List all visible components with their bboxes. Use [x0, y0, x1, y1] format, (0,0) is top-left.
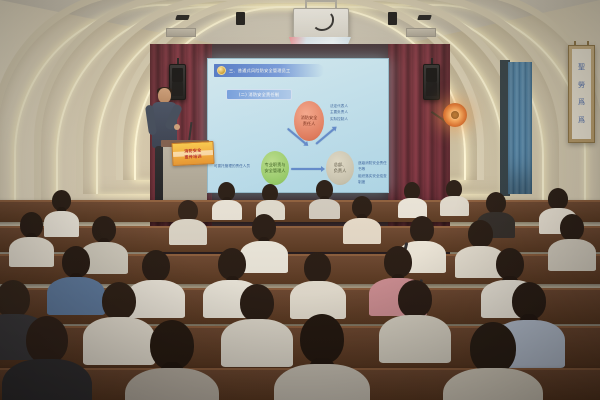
slide-subheading-box: (二) 消防安全责任制 — [226, 89, 292, 100]
ceiling-track-light-left — [236, 12, 245, 25]
ceiling-track-light-right — [388, 12, 397, 25]
head — [548, 188, 568, 210]
shoulders — [274, 364, 370, 400]
scroll-character-4: 爲 — [578, 117, 585, 124]
ceiling-vent-right — [406, 28, 436, 37]
shoulders — [398, 198, 427, 218]
diagram-node-right-label: 总部、 负责人 — [334, 162, 347, 175]
scroll-character-2: 勞 — [578, 82, 585, 89]
shoulders — [343, 218, 381, 244]
diagram-node-right: 总部、 负责人 — [326, 151, 354, 185]
ceiling-spotlight-left — [175, 15, 190, 20]
diagram-node-top: 消防安全 责任人 — [294, 101, 324, 141]
ceiling-spotlight-right — [417, 15, 432, 20]
projection-screen: 三、普通式风险防安全管理员工 (二) 消防安全责任制 消防安全 责任人 专业职责… — [207, 58, 389, 193]
presenter-hand — [174, 124, 180, 130]
head — [470, 322, 516, 374]
calligraphy-scroll-frame: 聖 勞 爲 爲 — [568, 45, 595, 143]
podium-banner: 消防安全 宣传培训 — [171, 141, 214, 166]
shoulders — [47, 277, 105, 315]
shoulders — [379, 315, 451, 363]
slide-header-banner: 三、普通式风险防安全管理员工 — [214, 64, 324, 77]
shoulders — [2, 359, 92, 400]
audience-seating — [0, 196, 600, 400]
emblem-icon — [217, 66, 226, 75]
shoulders — [44, 211, 79, 237]
shoulders — [440, 196, 469, 216]
shoulders — [83, 317, 155, 365]
scroll-hook-left — [574, 41, 576, 46]
scroll-character-1: 聖 — [578, 64, 585, 71]
head — [300, 314, 344, 364]
shoulders — [169, 219, 207, 245]
ceiling-vent-left — [166, 28, 196, 37]
shoulders — [240, 241, 288, 273]
head — [486, 192, 506, 214]
head — [410, 216, 434, 243]
auditorium-scene: 三、普通式风险防安全管理员工 (二) 消防安全责任制 消防安全 责任人 专业职责… — [0, 0, 600, 400]
head — [142, 250, 170, 282]
shoulders — [309, 199, 340, 219]
diagram-annotation-top: 法定代表人 主要负责人 实际控制人 — [330, 103, 348, 122]
wall-speaker-right — [423, 64, 440, 100]
side-blue-curtain — [508, 62, 532, 194]
shoulders — [212, 200, 242, 220]
slide-header-title: 三、普通式风险防安全管理员工 — [229, 68, 290, 74]
diagram-node-left: 专业职责与 安全管理人 — [261, 151, 289, 185]
scroll-hook-right — [587, 41, 589, 46]
head — [102, 282, 136, 320]
diagram-annotation-right: 逐级消防安全责任书等 组织落实安全巡查制度 — [358, 160, 389, 186]
head — [0, 280, 30, 318]
head — [560, 214, 584, 241]
head — [398, 280, 432, 318]
diagram-node-left-label: 专业职责与 安全管理人 — [265, 162, 286, 175]
head — [468, 220, 493, 248]
shoulders — [221, 319, 293, 367]
head — [240, 284, 274, 322]
head — [26, 316, 68, 364]
shoulders — [9, 237, 54, 267]
scroll-character-3: 爲 — [578, 99, 585, 106]
podium-banner-text: 消防安全 宣传培训 — [184, 147, 202, 159]
round-wall-sconce — [443, 103, 467, 127]
shoulders — [548, 239, 596, 271]
head — [304, 252, 331, 283]
diagram-node-top-label: 消防安全 责任人 — [301, 115, 318, 128]
diagram-annotation-left: 可委托管理的责任人员 — [214, 163, 258, 169]
calligraphy-scroll-paper: 聖 勞 爲 爲 — [572, 49, 591, 139]
presenter-head — [158, 88, 171, 103]
slide-subheading-text: (二) 消防安全责任制 — [239, 92, 279, 98]
diagram-arrow-left-to-right — [291, 168, 322, 170]
